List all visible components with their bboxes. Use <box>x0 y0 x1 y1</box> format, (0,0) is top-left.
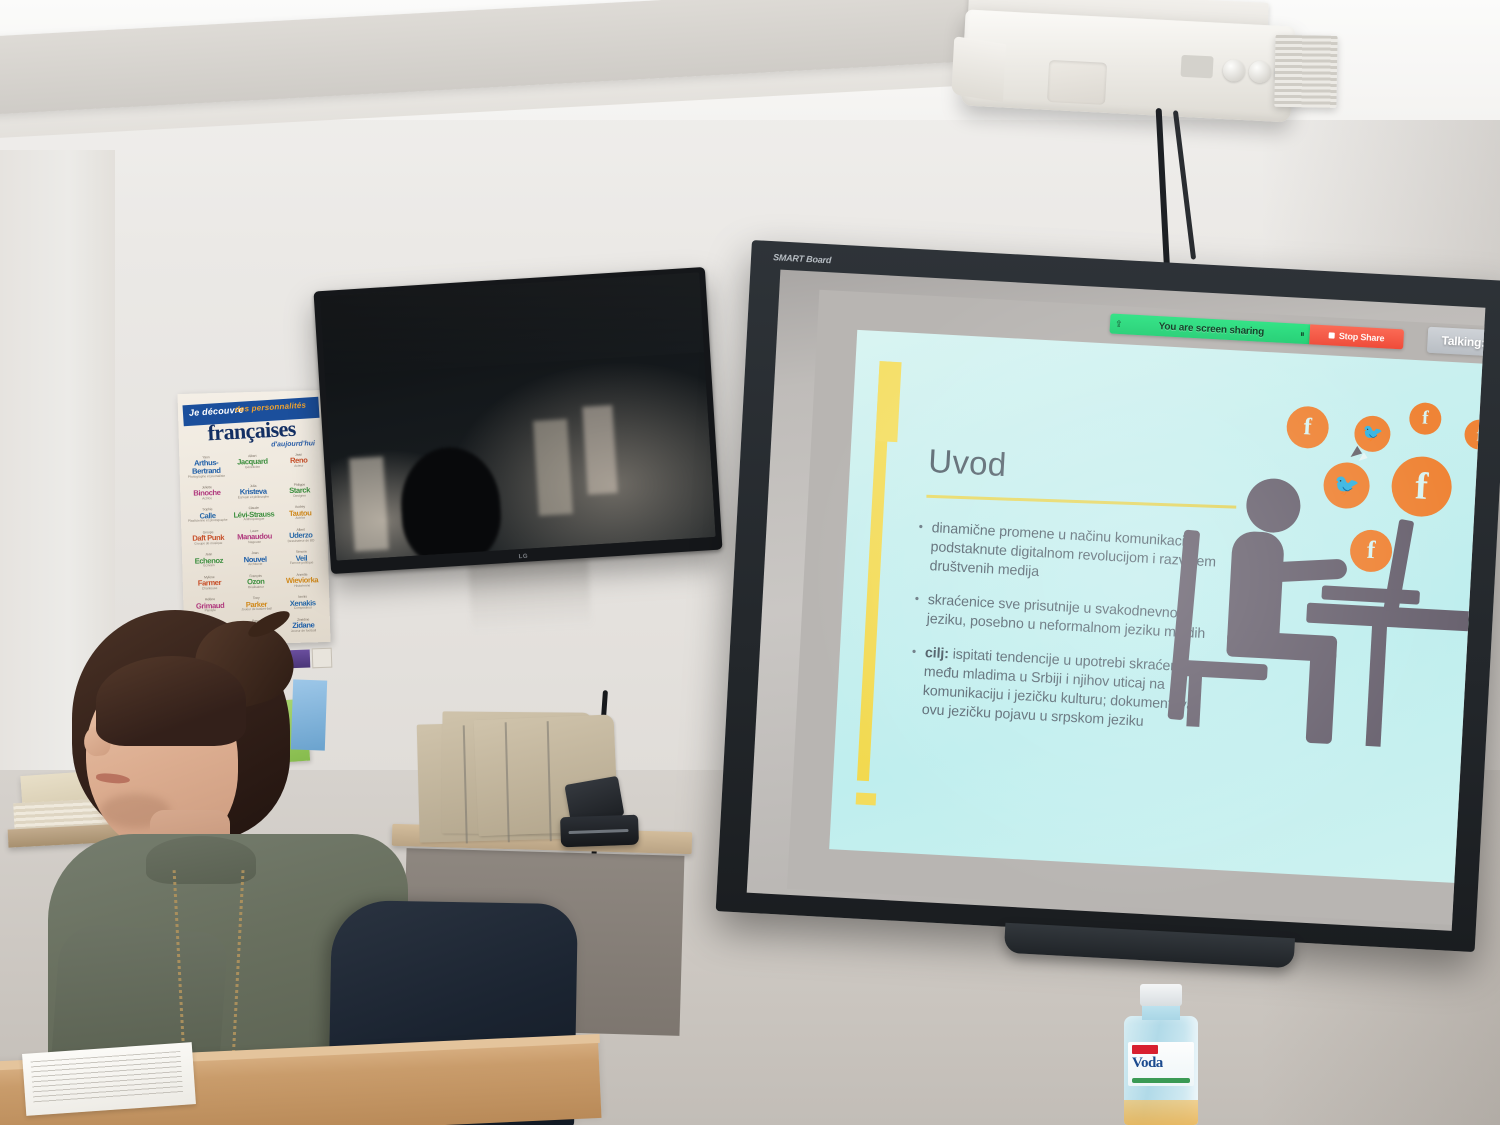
poster-entry: AlbertJacquardGénéticien <box>229 451 275 481</box>
stop-share-button[interactable]: Stop Share <box>1309 324 1404 349</box>
water-bottle[interactable]: Voda <box>1118 984 1204 1125</box>
bottle-contents <box>1124 1100 1198 1125</box>
poster-entry-desc: Réalisateur <box>233 585 278 589</box>
mouse-pointer-icon <box>1351 446 1365 461</box>
spar-logo <box>1132 1045 1158 1054</box>
poster-entry-desc: Chanteuse <box>187 586 232 590</box>
poster-entry: AlbertUderzoDessinateur de BD <box>278 525 324 548</box>
poster-entry: MylèneFarmerChanteuse <box>187 572 233 595</box>
poster-entry: YannArthus-BertrandPhotographe et journa… <box>183 453 229 483</box>
poster-entry: JuliaKristevaÉcrivain et philosophe <box>230 481 276 504</box>
poster-entry-desc: Acteur <box>276 464 321 468</box>
tv-reflection-window-1 <box>533 419 573 516</box>
twitter-icon: 🐦 <box>1322 461 1370 509</box>
poster-kicker-orange: des personnalités <box>235 401 307 414</box>
slide-illustration: f 🐦 f f 🐦 f f <box>1136 376 1482 853</box>
tv-reflection-figure <box>398 444 504 560</box>
smart-board-surface[interactable]: ⇪ You are screen sharing ⏸ Stop Share Ta… <box>747 270 1486 931</box>
poster-subtitle: d'aujourd'hui <box>271 440 315 448</box>
facebook-icon: f <box>1349 529 1393 573</box>
slide-accent-block <box>875 361 901 442</box>
handout-text-lines <box>31 1051 184 1105</box>
illustration-desk-leg <box>1366 624 1388 747</box>
talking-label: Talking: Unilib Sveto <box>1441 333 1485 353</box>
presentation-slide: Uvod •dinamične promene u načinu komunik… <box>829 330 1482 883</box>
stop-share-label: Stop Share <box>1339 331 1385 343</box>
slide-title: Uvod <box>927 442 1007 484</box>
projector-focus-knob[interactable] <box>1222 59 1245 82</box>
slide-accent-dot <box>856 792 877 805</box>
scanner-base <box>560 815 639 848</box>
tv-brand-logo: LG <box>519 554 529 561</box>
smart-board: SMART Board ⇪ You are screen sharing ⏸ S… <box>715 240 1500 960</box>
facebook-icon: f <box>1286 405 1330 449</box>
screen-share-icon: ⇪ <box>1110 318 1128 330</box>
poster-entry-desc: Écrivain et philosophe <box>231 495 276 499</box>
poster-entry: SophieCallePlasticienne et photographe <box>185 505 231 528</box>
wall-mounted-tv: LG <box>314 267 723 574</box>
poster-entry-desc: Plasticienne et photographe <box>185 519 230 523</box>
tv-screen <box>320 272 716 560</box>
label-green-band <box>1132 1078 1190 1083</box>
poster-entry-desc: Designer <box>277 494 322 498</box>
poster-entry: LaureManaudouNageuse <box>232 526 278 549</box>
poster-entry: JeanNouvelArchitecte <box>232 549 278 572</box>
classroom-scene: Je découvre des personnalités françaises… <box>0 0 1500 1125</box>
projected-image: ⇪ You are screen sharing ⏸ Stop Share Ta… <box>787 290 1484 925</box>
poster-entry-desc: Architecte <box>233 563 278 567</box>
zoom-active-speaker-badge: Talking: Unilib Sveto <box>1427 327 1486 364</box>
poster-entry: SimoneVeilFemme politique <box>279 547 325 570</box>
poster-entry: JeanRenoActeur <box>276 450 322 480</box>
bottle-neck <box>1142 1004 1180 1020</box>
illustration-figure-arm <box>1268 559 1347 583</box>
zoom-sharing-label: You are screen sharing <box>1127 319 1295 339</box>
bottle-cap <box>1140 984 1182 1006</box>
poster-entry-desc: Photographe et journaliste <box>184 474 229 478</box>
poster-entry: ClaudeLévi-StraussAnthropologue <box>231 504 277 527</box>
poster-entry: AudreyTautouActrice <box>277 503 323 526</box>
illustration-figure-head <box>1245 477 1302 534</box>
illustration-figure-shin <box>1306 647 1337 744</box>
stop-icon <box>1329 332 1335 338</box>
poster-entry-desc: Femme politique <box>279 561 324 565</box>
poster-entry: AnnetteWieviorkaHistorienne <box>279 570 325 593</box>
barcode-scanner[interactable] <box>559 779 639 854</box>
poster-entry: PhilippeStarckDesigner <box>277 480 323 503</box>
projector-lens-cover <box>1047 60 1107 105</box>
projector-lens-hood <box>951 36 1006 102</box>
facebook-icon: f <box>1408 402 1442 436</box>
poster-entry-desc: Actrice <box>184 497 229 501</box>
poster-entry-desc: Écrivain <box>186 564 231 568</box>
poster-entry-desc: Dessinateur de BD <box>278 539 323 543</box>
tv-reflection-window-3 <box>349 457 389 552</box>
poster-entry: JeanEchenozÉcrivain <box>186 550 232 573</box>
poster-entry: GroupeDaft PunkGroupe de musique <box>185 528 231 551</box>
projector-zoom-knob[interactable] <box>1248 60 1271 83</box>
tv-reflection-window-2 <box>582 405 618 494</box>
zoom-screen-sharing-bar: ⇪ You are screen sharing ⏸ <box>1109 313 1310 344</box>
printed-handout <box>22 1042 196 1116</box>
projector-vent <box>1274 35 1337 108</box>
ceiling-projector <box>961 9 1296 122</box>
poster-entry: JulietteBinocheActrice <box>184 483 230 506</box>
illustration-chair-leg <box>1186 674 1202 727</box>
illustration-laptop-base <box>1321 585 1420 604</box>
scanner-stripe <box>569 829 629 834</box>
bullet-lead: cilj: <box>924 645 949 662</box>
tv-screen-sheen <box>320 272 716 378</box>
poster-entry: FrançoisOzonRéalisateur <box>233 571 279 594</box>
facebook-icon: f <box>1390 455 1453 518</box>
bottle-label: Voda <box>1128 1042 1194 1086</box>
hair-front <box>96 656 246 746</box>
pause-icon[interactable]: ⏸ <box>1295 328 1310 340</box>
projector-display-panel <box>1181 55 1214 79</box>
smart-board-logo: SMART Board <box>773 252 832 265</box>
bottle-brand-text: Voda <box>1132 1055 1163 1072</box>
tv-wall-mount <box>468 557 591 633</box>
illustration-figure-torso <box>1227 530 1285 645</box>
poster-entry-desc: Actrice <box>278 517 323 521</box>
